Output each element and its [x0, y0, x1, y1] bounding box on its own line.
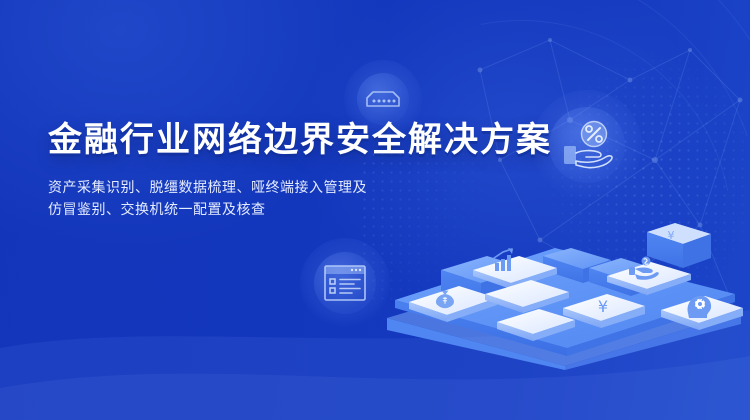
- block-yen-raised: ¥: [647, 223, 711, 268]
- page-title: 金融行业网络边界安全解决方案: [48, 118, 518, 162]
- hand-percent-icon: [556, 116, 618, 174]
- platform-illustration: ¥: [375, 170, 750, 370]
- window-checklist-icon: [322, 262, 368, 304]
- server-router-icon: [363, 84, 403, 114]
- isometric-finance-platform: ¥: [375, 170, 750, 370]
- svg-text:¥: ¥: [668, 229, 675, 242]
- finance-security-banner: 金融行业网络边界安全解决方案 资产采集识别、脱缰数据梳理、哑终端接入管理及 仿冒…: [0, 0, 750, 420]
- svg-text:¥: ¥: [598, 297, 608, 316]
